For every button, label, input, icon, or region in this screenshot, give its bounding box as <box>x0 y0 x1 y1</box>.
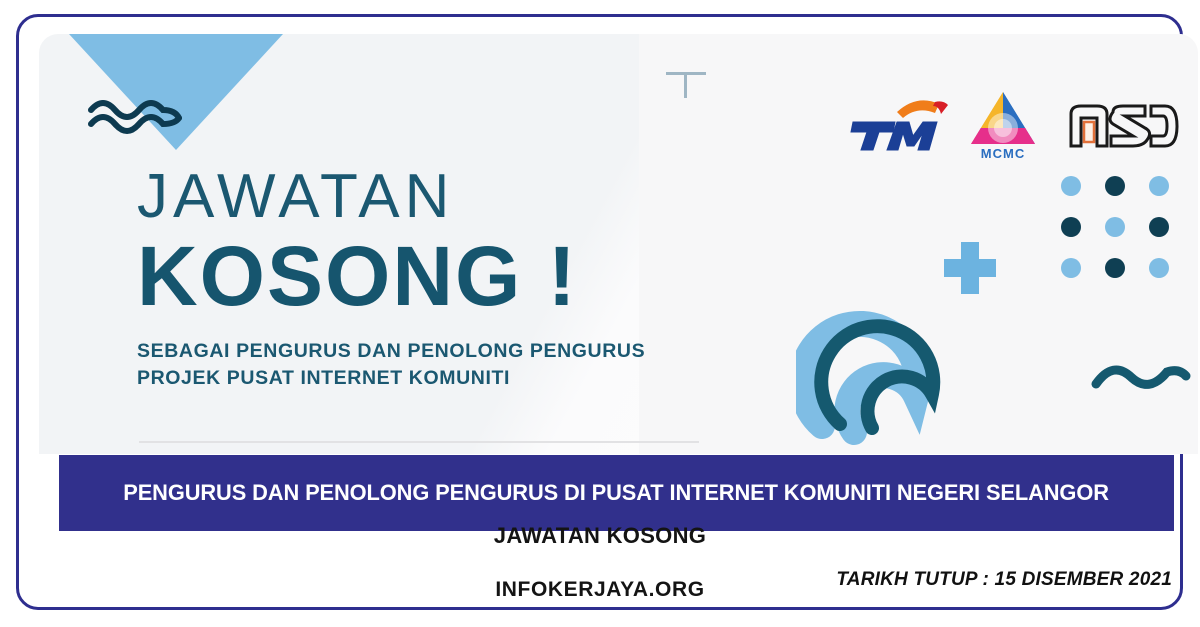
headline-block: JAWATAN KOSONG ! SEBAGAI PENGURUS DAN PE… <box>137 166 717 391</box>
wave-line-top-left-icon <box>87 96 227 141</box>
headline-subtitle-line-1: SEBAGAI PENGURUS DAN PENOLONG PENGURUS <box>137 338 717 365</box>
category-label: JAWATAN KOSONG <box>0 523 1200 549</box>
headline-subtitle-line-2: PROJEK PUSAT INTERNET KOMUNITI <box>137 365 717 392</box>
headline-subtitle: SEBAGAI PENGURUS DAN PENOLONG PENGURUS P… <box>137 338 717 392</box>
swirl-spiral-icon <box>796 308 961 454</box>
job-vacancy-poster: JAWATAN KOSONG ! SEBAGAI PENGURUS DAN PE… <box>0 0 1200 627</box>
position-title-text: PENGURUS DAN PENOLONG PENGURUS DI PUSAT … <box>98 478 1134 508</box>
svg-text:MCMC: MCMC <box>981 146 1025 161</box>
dot-grid-icon <box>1061 176 1193 299</box>
plus-icon <box>944 242 996 294</box>
mcmc-logo: MCMC <box>967 88 1039 162</box>
headline-line-2: KOSONG ! <box>137 234 717 320</box>
partner-logos: MCMC <box>839 88 1189 162</box>
wave-line-bottom-right-icon <box>1091 360 1191 401</box>
position-title-banner: PENGURUS DAN PENOLONG PENGURUS DI PUSAT … <box>59 455 1174 531</box>
nsd-logo <box>1067 98 1179 152</box>
t-shape-icon <box>666 72 706 98</box>
headline-divider <box>139 441 699 443</box>
headline-line-1: JAWATAN <box>137 166 717 228</box>
closing-date-label: TARIKH TUTUP : 15 DISEMBER 2021 <box>836 569 1172 591</box>
poster-frame: JAWATAN KOSONG ! SEBAGAI PENGURUS DAN PE… <box>16 14 1183 610</box>
hero-artwork: JAWATAN KOSONG ! SEBAGAI PENGURUS DAN PE… <box>39 34 1198 454</box>
tm-logo <box>849 96 949 154</box>
